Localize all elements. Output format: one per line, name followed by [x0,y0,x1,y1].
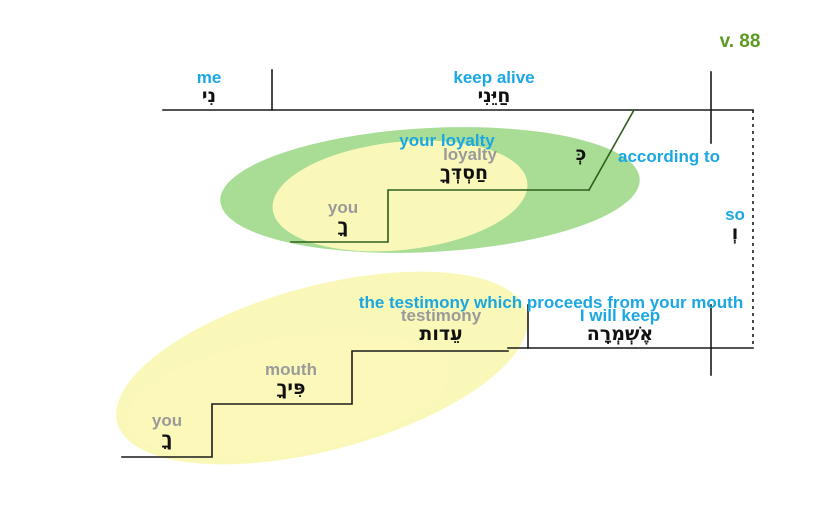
hebrew-loyalty: חַסְדְּךָ [440,164,488,183]
hebrew-me: נִי [202,87,216,106]
hebrew-testimony: עֵדות [419,325,462,344]
gloss-you-lower: you [152,412,182,429]
gloss-so: so [725,206,745,223]
hebrew-i-will-keep: אֶשְׁמְרָה [587,325,653,344]
gloss-testimony: testimony [401,307,481,324]
hebrew-keep-alive: חַיֵּנִי [478,87,511,106]
gloss-mouth: mouth [265,361,317,378]
gloss-me: me [197,69,222,86]
gloss-you-upper: you [328,199,358,216]
gloss-according-to: according to [618,148,720,165]
hebrew-ke-prefix: כְּ [576,145,587,164]
hebrew-mouth: פִּיךָ [276,379,305,398]
diagram-graphics-layer [0,0,825,510]
gloss-i-will-keep: I will keep [580,307,660,324]
hebrew-so: וְ [732,224,739,243]
hebrew-you-upper: ךָ [338,217,349,236]
verse-label: v. 88 [720,32,761,51]
hebrew-you-lower: ךָ [162,430,173,449]
gloss-loyalty: loyalty [443,146,497,163]
discourse-diagram-canvas: v. 88 me נִי keep alive חַיֵּנִי your lo… [0,0,825,510]
gloss-keep-alive: keep alive [453,69,534,86]
